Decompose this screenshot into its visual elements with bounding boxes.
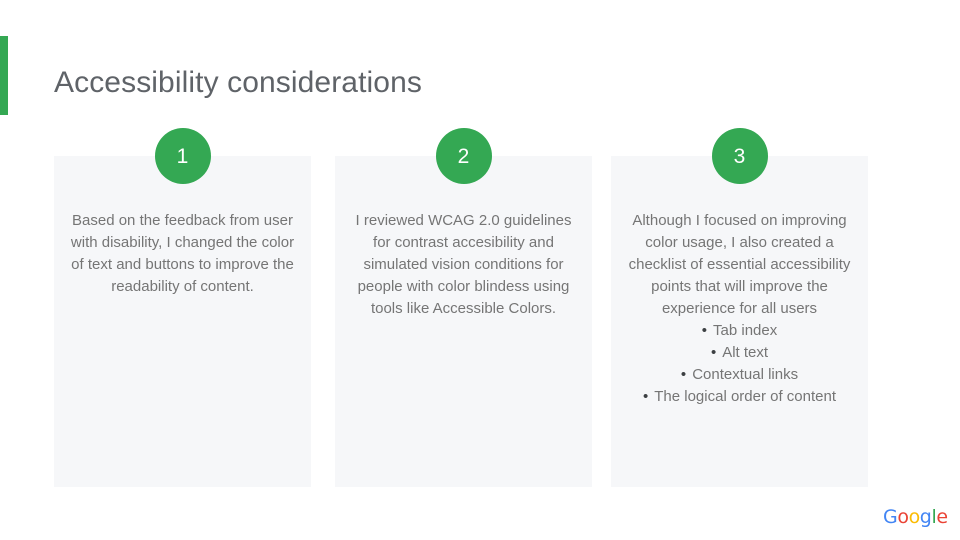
card-3-number-badge: 3	[712, 128, 768, 184]
card-3-body-text: Although I focused on improving color us…	[616, 210, 863, 320]
list-item-label: Contextual links	[692, 366, 798, 383]
list-item: •Contextual links	[616, 364, 863, 386]
card-1[interactable]: 1 Based on the feedback from user with d…	[54, 156, 311, 487]
card-3-body: Although I focused on improving color us…	[611, 210, 868, 408]
list-item-label: Alt text	[722, 344, 768, 361]
bullet-dot-icon: •	[681, 364, 686, 386]
list-item: •Alt text	[616, 342, 863, 364]
google-logo-letter: o	[897, 506, 908, 528]
list-item: •Tab index	[616, 320, 863, 342]
google-logo-letter: G	[883, 506, 897, 528]
cards-row: 1 Based on the feedback from user with d…	[54, 156, 868, 487]
card-3-bullet-list: •Tab index•Alt text•Contextual links•The…	[616, 320, 863, 408]
card-1-number-badge: 1	[155, 128, 211, 184]
card-3[interactable]: 3 Although I focused on improving color …	[611, 156, 868, 487]
list-item: •The logical order of content	[616, 386, 863, 408]
card-1-body-text: Based on the feedback from user with dis…	[54, 210, 311, 298]
google-logo: Google	[883, 506, 948, 528]
bullet-dot-icon: •	[643, 386, 648, 408]
google-logo-letter: o	[909, 506, 920, 528]
slide: Accessibility considerations 1 Based on …	[0, 0, 960, 540]
card-2-number-badge: 2	[436, 128, 492, 184]
card-2-body-text: I reviewed WCAG 2.0 guidelines for contr…	[335, 210, 592, 320]
bullet-dot-icon: •	[711, 342, 716, 364]
card-2[interactable]: 2 I reviewed WCAG 2.0 guidelines for con…	[335, 156, 592, 487]
google-logo-letter: g	[920, 506, 932, 528]
page-title: Accessibility considerations	[54, 62, 422, 104]
bullet-dot-icon: •	[702, 320, 707, 342]
google-logo-letter: e	[936, 506, 947, 528]
list-item-label: The logical order of content	[654, 388, 836, 405]
accent-bar	[0, 36, 8, 115]
list-item-label: Tab index	[713, 322, 777, 339]
